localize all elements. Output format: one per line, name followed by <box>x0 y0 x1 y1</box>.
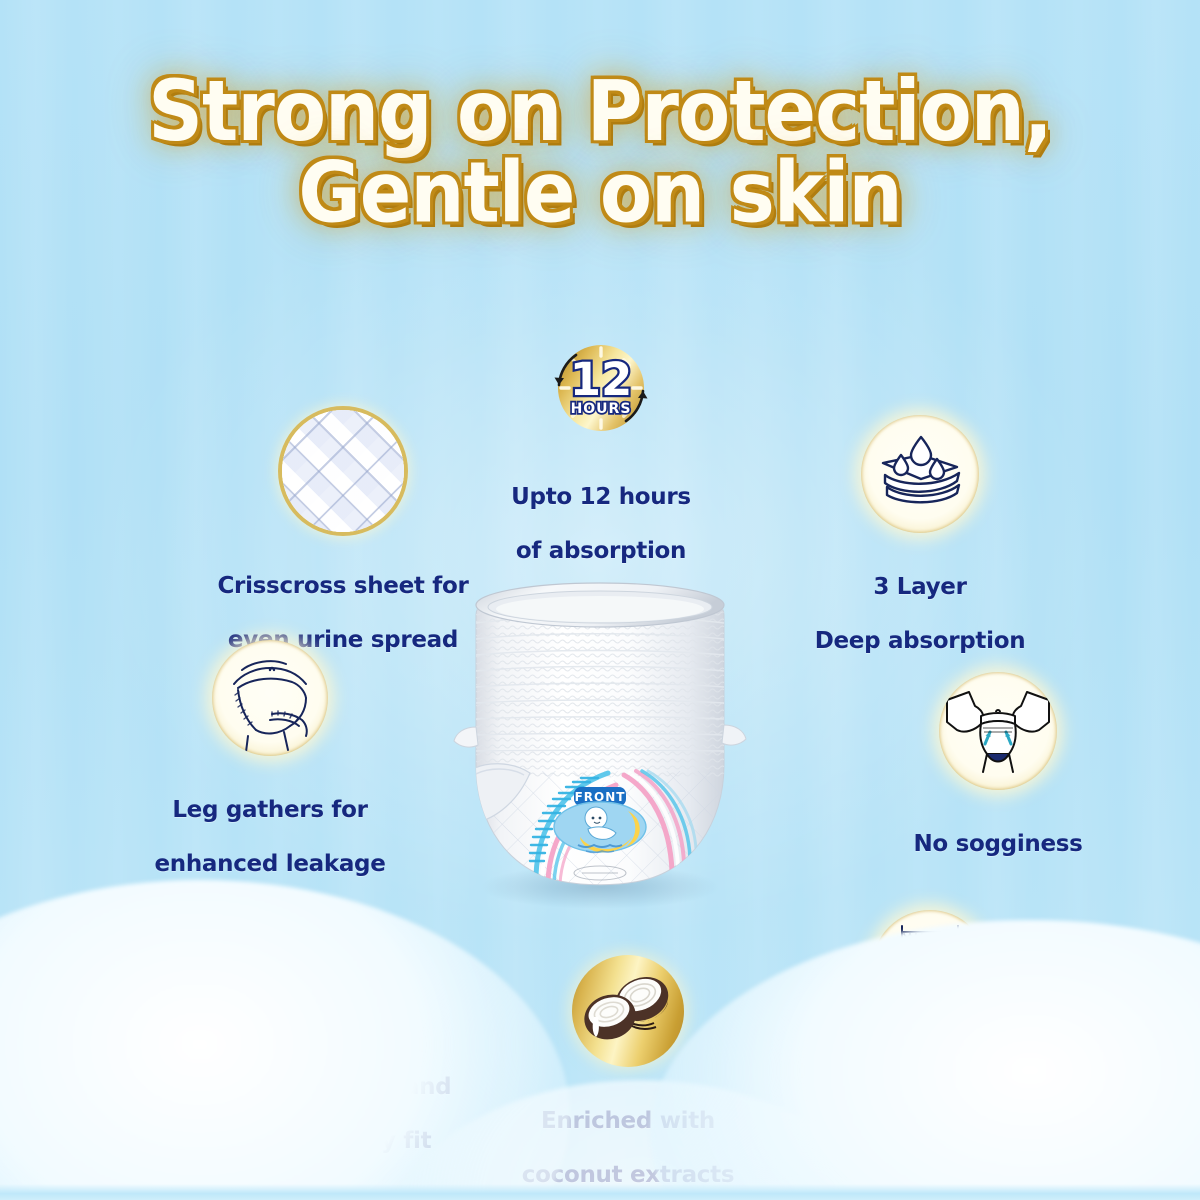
coconut-halves-icon <box>572 955 684 1067</box>
feature-no-sogginess[interactable]: No sogginess <box>878 672 1118 858</box>
caption-line: Crisscross sheet for <box>217 573 468 599</box>
page-title: Strong on Protection, Gentle on skin <box>0 71 1200 233</box>
caption-line: enhanced leakage <box>154 851 385 877</box>
caption-line: Deep absorption <box>815 628 1026 654</box>
badge-number-text: 12 <box>570 353 633 406</box>
baby-diaper-legs-icon <box>212 640 328 756</box>
feature-no-sogginess-caption: No sogginess <box>913 804 1082 858</box>
feature-crisscross-caption: Crisscross sheet for even urine spread <box>217 546 468 655</box>
caption-line: Leg gathers for <box>172 797 367 823</box>
feature-flexi-fit[interactable]: Flexi fit : gentle and secure tummy fit <box>188 917 458 1156</box>
feature-leg-gathers-caption: Leg gathers for enhanced leakage protect… <box>154 770 385 933</box>
feature-leg-gathers[interactable]: Leg gathers for enhanced leakage protect… <box>140 640 400 933</box>
three-layer-droplet-icon <box>861 415 979 533</box>
feature-coconut-extracts[interactable]: Enriched with coconut extracts <box>508 955 748 1190</box>
feature-flexi-fit-caption: Flexi fit : gentle and secure tummy fit <box>195 1047 452 1156</box>
feature-twelve-hours[interactable]: 12 HOURS Upto 12 hours of absorption <box>470 333 732 566</box>
feature-thigh-leakage-caption: 2X protection from thigh leakage <box>810 1040 1050 1149</box>
quilt-pattern <box>282 410 404 532</box>
feature-three-layer[interactable]: 3 Layer Deep absorption <box>795 415 1045 656</box>
headline-line-1: Strong on Protection, <box>148 62 1051 160</box>
caption-line: 3 Layer <box>873 574 966 600</box>
feature-thigh-leakage[interactable]: 2X protection from thigh leakage <box>790 910 1070 1149</box>
feature-three-layer-caption: 3 Layer Deep absorption <box>815 547 1026 656</box>
badge-unit-text: HOURS <box>571 401 632 417</box>
diaper-thigh-arrow-icon <box>872 910 988 1026</box>
hands-flexi-waistband-icon <box>265 917 381 1033</box>
baby-on-moon-logo: ​ <box>554 802 646 853</box>
caption-line: 2X protection from <box>810 1067 1050 1093</box>
headline-line-2: Gentle on skin <box>0 152 1200 233</box>
caption-line: of absorption <box>516 538 686 564</box>
caption-line: secure tummy fit <box>215 1128 432 1154</box>
quilted-sheet-icon <box>282 410 404 532</box>
caption-line: thigh leakage <box>843 1121 1017 1147</box>
infographic-canvas: Strong on Protection, Gentle on skin Cri… <box>0 0 1200 1200</box>
feature-twelve-hours-caption: Upto 12 hours of absorption <box>511 457 691 566</box>
hands-stretch-diaper-icon <box>939 672 1057 790</box>
caption-line: coconut extracts <box>522 1162 734 1188</box>
caption-line: Flexi fit : gentle and <box>195 1074 452 1100</box>
caption-line: Upto 12 hours <box>511 484 691 510</box>
twelve-hours-clock-icon: 12 HOURS <box>546 333 656 443</box>
caption-line: Enriched with <box>541 1108 715 1134</box>
caption-line: No sogginess <box>913 831 1082 857</box>
product-image-diaper-pant[interactable]: FRONT ​ <box>440 575 760 915</box>
feature-coconut-caption: Enriched with coconut extracts <box>522 1081 734 1190</box>
